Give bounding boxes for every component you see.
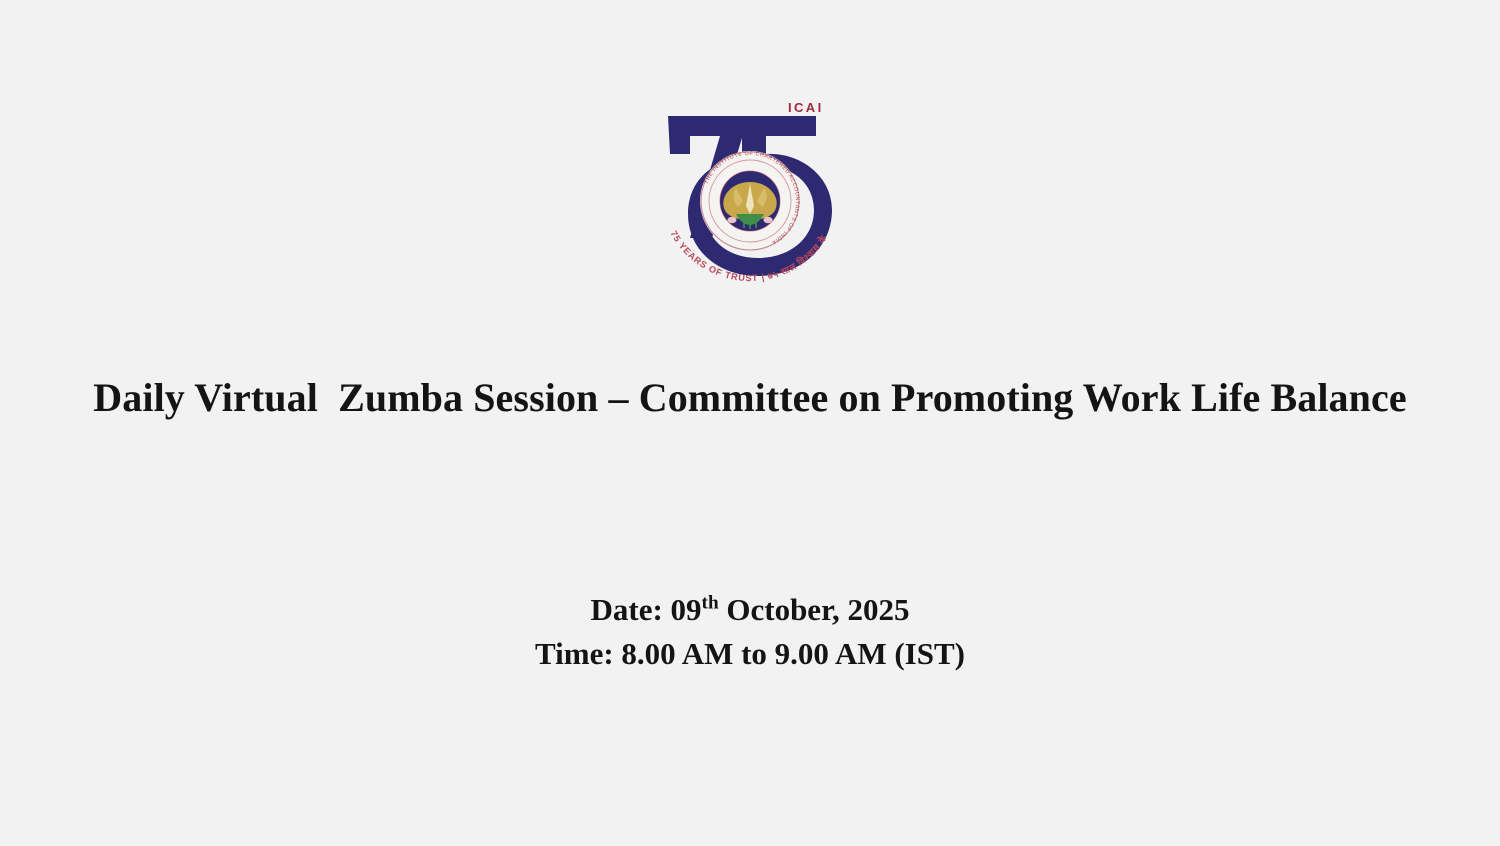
logo-container: THE INSTITUTE OF CHARTERED ACCOUNTANTS O… [0, 88, 1500, 288]
event-details: Date: 09th October, 2025 Time: 8.00 AM t… [0, 588, 1500, 676]
event-date-spacer [663, 592, 671, 627]
logo-garuda-emblem [723, 182, 776, 229]
icai-75-years-logo: THE INSTITUTE OF CHARTERED ACCOUNTANTS O… [650, 88, 850, 288]
title-row: Daily Virtual Zumba Session – Committee … [0, 374, 1500, 421]
logo-icai-wordmark: ICAI [788, 100, 824, 115]
presentation-slide: THE INSTITUTE OF CHARTERED ACCOUNTANTS O… [0, 0, 1500, 846]
page-title: Daily Virtual Zumba Session – Committee … [93, 374, 1406, 421]
event-date-ordinal: th [702, 593, 719, 614]
event-date-label: Date: [591, 592, 663, 627]
event-time-line: Time: 8.00 AM to 9.00 AM (IST) [0, 632, 1500, 676]
event-date-line: Date: 09th October, 2025 [0, 588, 1500, 632]
event-date-rest: October, 2025 [719, 592, 910, 627]
event-date-day: 09 [671, 592, 702, 627]
